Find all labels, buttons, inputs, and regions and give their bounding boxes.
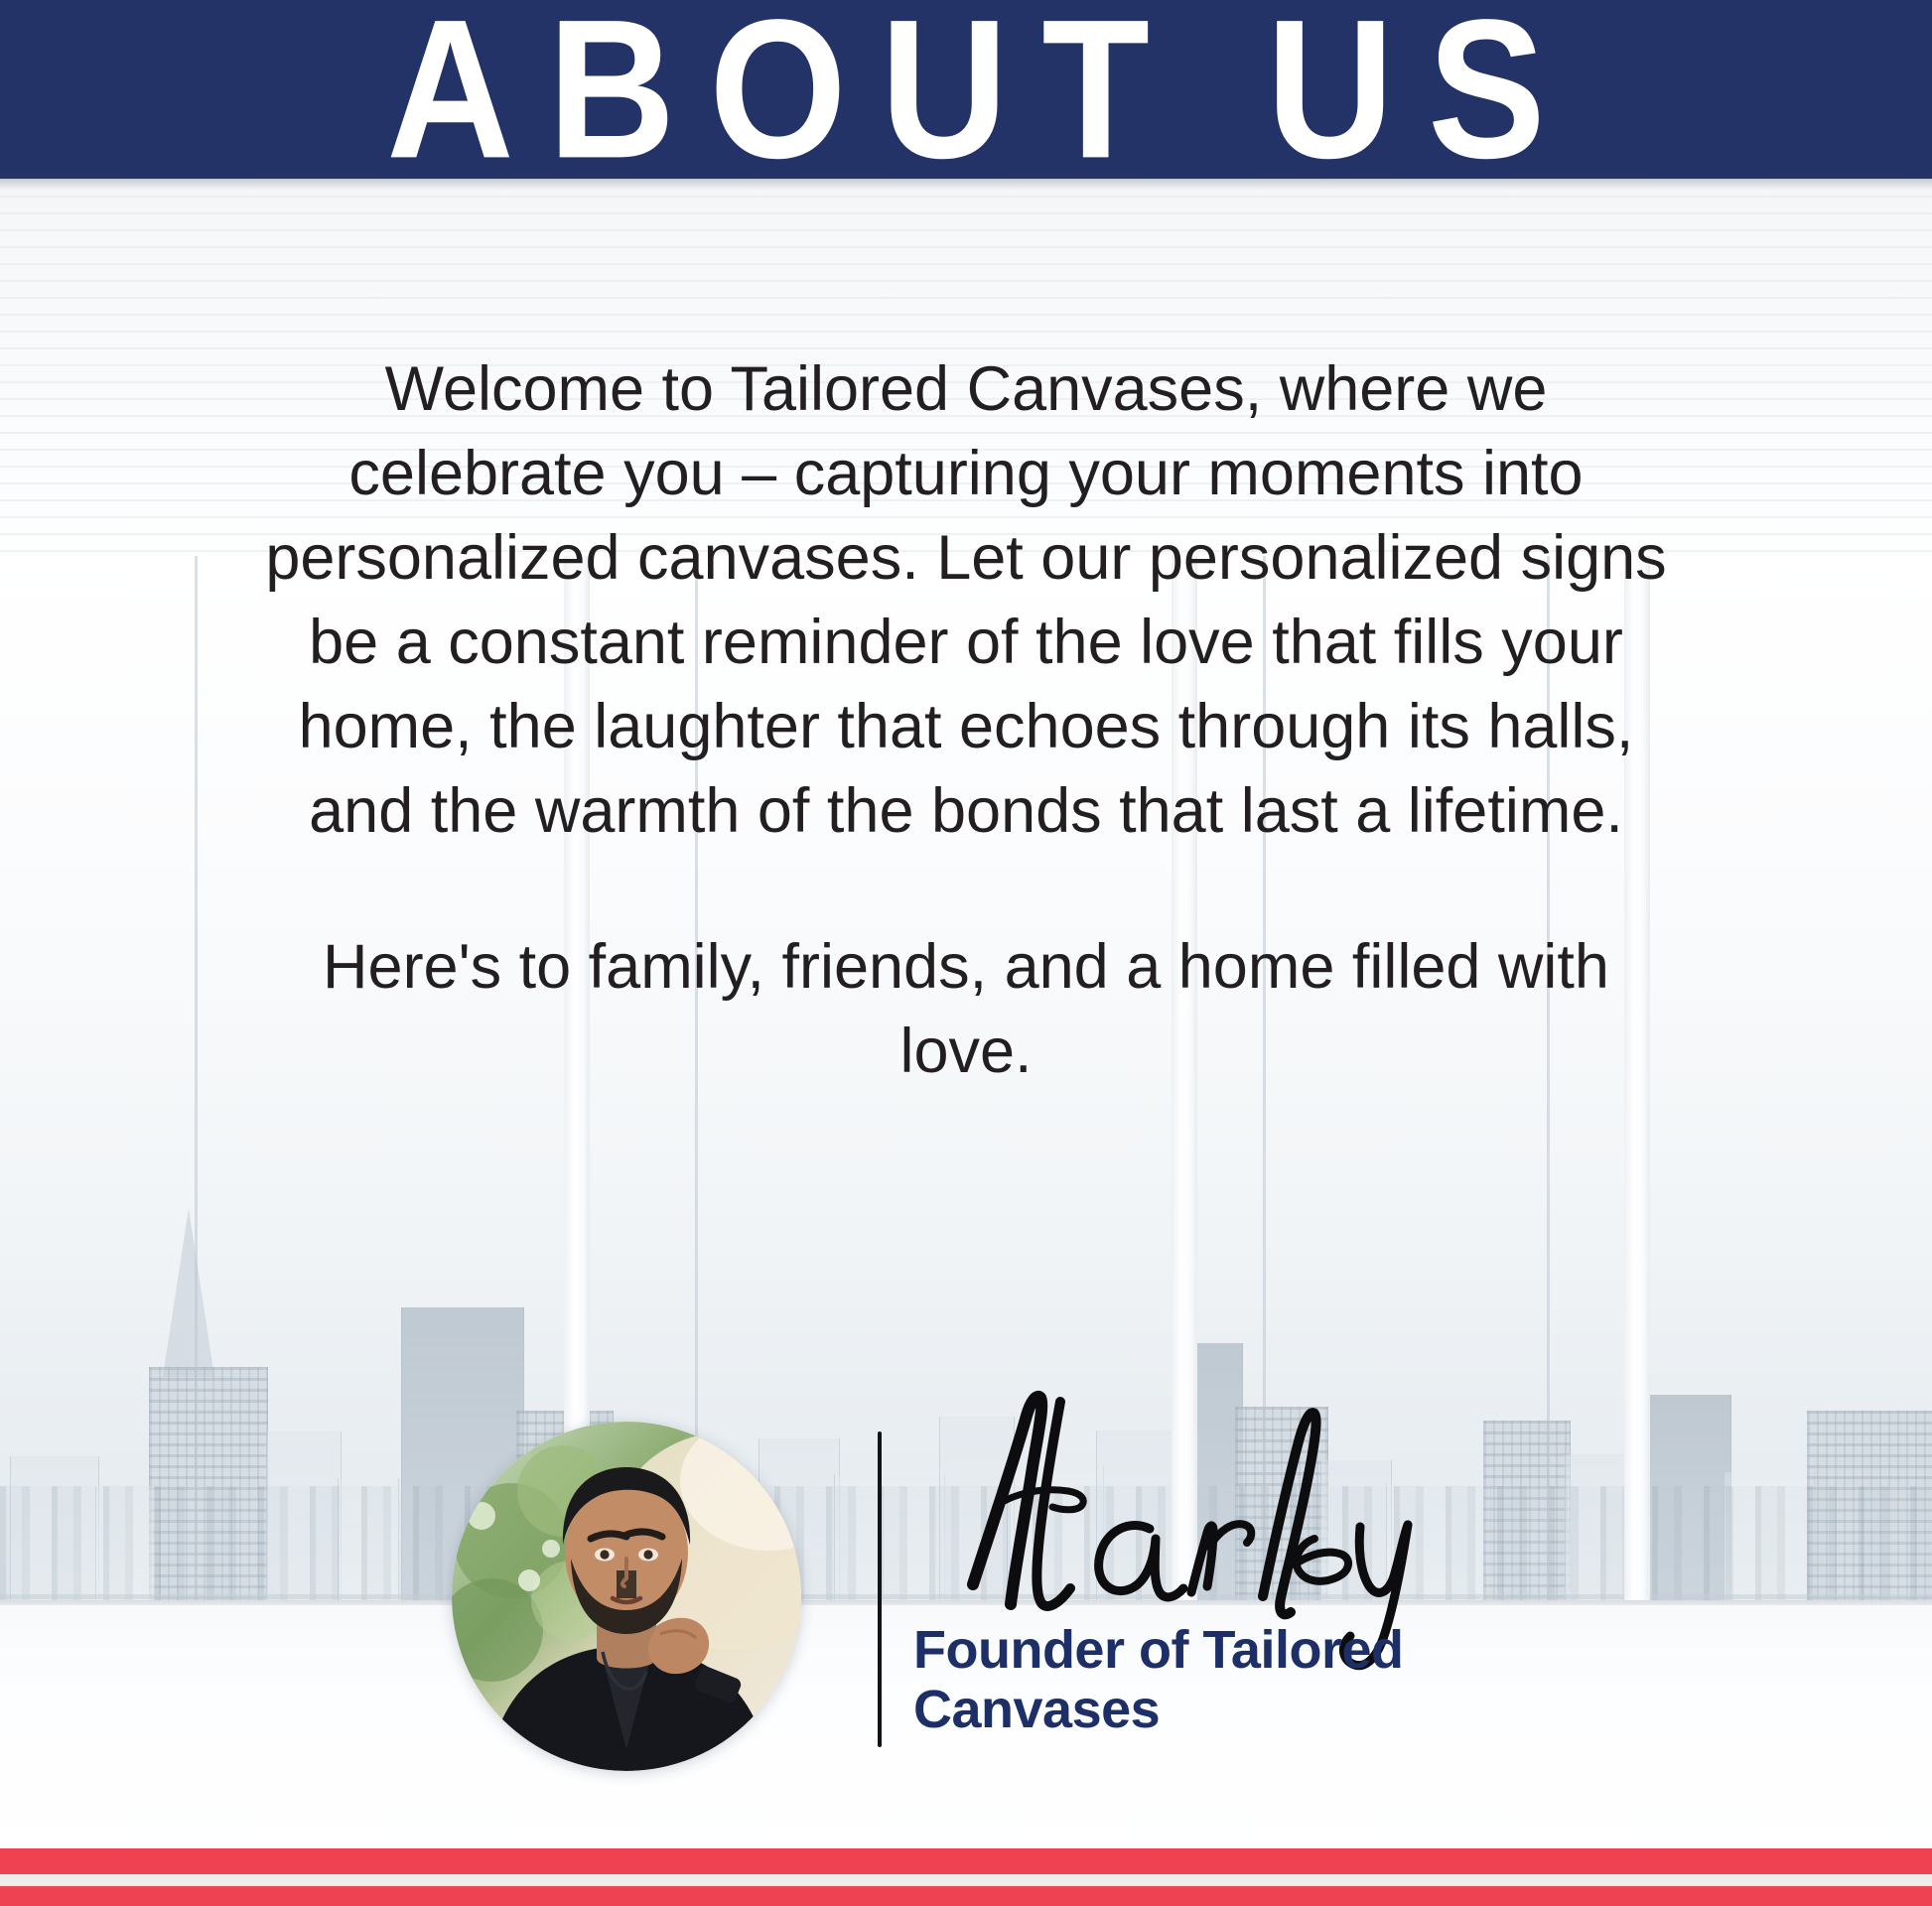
vertical-divider [878, 1431, 882, 1747]
role-line-1: Founder of Tailored [913, 1620, 1549, 1680]
about-copy: Welcome to Tailored Canvases, where we c… [251, 347, 1681, 1094]
founder-role: Founder of Tailored Canvases [913, 1620, 1549, 1740]
header-band: ABOUT US [0, 0, 1932, 179]
paragraph-spacer [251, 854, 1681, 925]
avatar [452, 1422, 801, 1771]
signature-block: Founder of Tailored Canvases [0, 1390, 1932, 1807]
about-us-poster: ABOUT US Welcome to Tailored Canvases, w… [0, 0, 1932, 1906]
footer-stripe-bottom [0, 1886, 1932, 1906]
footer-stripe-top [0, 1848, 1932, 1874]
spire-tower [163, 1208, 214, 1377]
footer-stripe-gap [0, 1874, 1932, 1886]
role-line-2: Canvases [913, 1680, 1549, 1739]
about-paragraph-1: Welcome to Tailored Canvases, where we c… [251, 347, 1681, 854]
page-title: ABOUT US [352, 0, 1580, 179]
header-shadow [0, 179, 1932, 191]
about-paragraph-2: Here's to family, friends, and a home fi… [251, 925, 1681, 1094]
